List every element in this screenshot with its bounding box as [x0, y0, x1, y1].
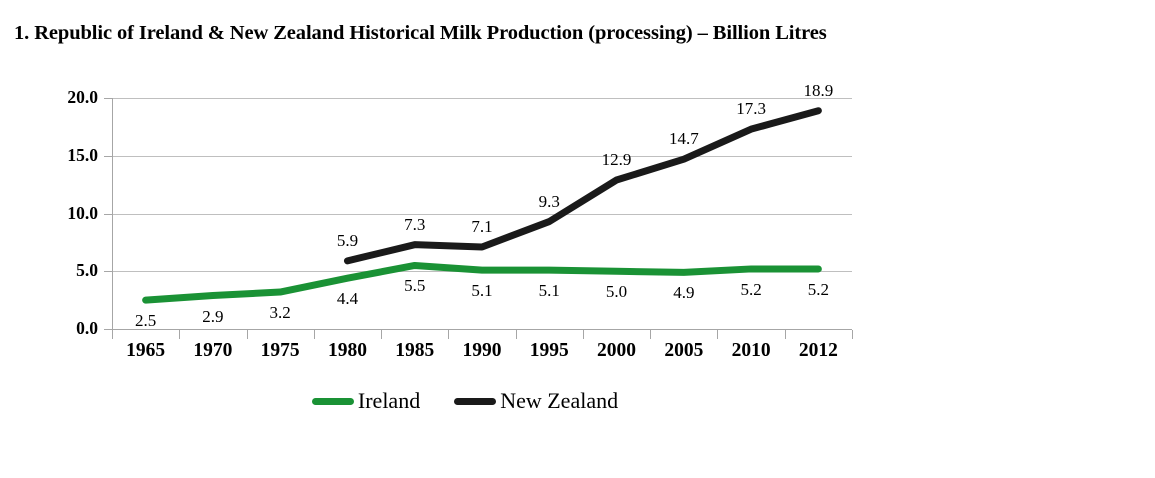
legend-label: Ireland: [358, 388, 420, 414]
legend-item-new-zealand[interactable]: New Zealand: [454, 388, 618, 414]
y-axis-label: 0.0: [28, 318, 98, 339]
data-label-new-zealand-2000: 12.9: [582, 150, 652, 170]
data-label-new-zealand-2010: 17.3: [716, 99, 786, 119]
data-label-ireland-1965: 2.5: [111, 311, 181, 331]
y-axis-label: 5.0: [28, 260, 98, 281]
line-swatch-icon: [312, 398, 354, 405]
y-axis-label: 10.0: [28, 203, 98, 224]
data-label-new-zealand-1990: 7.1: [447, 217, 517, 237]
series-line-new-zealand: [347, 111, 818, 261]
data-label-new-zealand-1985: 7.3: [380, 215, 450, 235]
x-tick-mark: [247, 330, 248, 339]
data-label-ireland-1975: 3.2: [245, 303, 315, 323]
gridline-5: [112, 271, 852, 272]
gridline-10: [112, 214, 852, 215]
y-tick-mark: [104, 156, 112, 157]
x-tick-mark: [785, 330, 786, 339]
data-label-ireland-1990: 5.1: [447, 281, 517, 301]
data-label-ireland-1995: 5.1: [514, 281, 584, 301]
legend-label: New Zealand: [500, 388, 618, 414]
y-axis-line: [112, 98, 113, 330]
x-axis-label-2012: 2012: [778, 340, 858, 362]
chart-legend: IrelandNew Zealand: [0, 388, 930, 414]
y-axis-label: 15.0: [28, 145, 98, 166]
data-label-new-zealand-2012: 18.9: [783, 81, 853, 101]
gridline-0: [112, 329, 852, 330]
x-tick-mark: [179, 330, 180, 339]
data-label-ireland-2005: 4.9: [649, 283, 719, 303]
x-tick-mark: [852, 330, 853, 339]
y-tick-mark: [104, 214, 112, 215]
x-tick-mark: [650, 330, 651, 339]
data-label-ireland-1970: 2.9: [178, 307, 248, 327]
data-label-ireland-2000: 5.0: [582, 282, 652, 302]
data-label-new-zealand-1980: 5.9: [312, 231, 382, 251]
y-axis-label: 20.0: [28, 87, 98, 108]
data-label-ireland-2012: 5.2: [783, 280, 853, 300]
legend-item-ireland[interactable]: Ireland: [312, 388, 420, 414]
data-label-new-zealand-2005: 14.7: [649, 129, 719, 149]
x-tick-mark: [112, 330, 113, 339]
gridline-15: [112, 156, 852, 157]
data-label-ireland-1980: 4.4: [312, 289, 382, 309]
y-tick-mark: [104, 98, 112, 99]
x-tick-mark: [314, 330, 315, 339]
x-tick-mark: [583, 330, 584, 339]
x-tick-mark: [448, 330, 449, 339]
line-swatch-icon: [454, 398, 496, 405]
data-label-ireland-1985: 5.5: [380, 276, 450, 296]
y-tick-mark: [104, 271, 112, 272]
x-tick-mark: [381, 330, 382, 339]
data-label-new-zealand-1995: 9.3: [514, 192, 584, 212]
data-label-ireland-2010: 5.2: [716, 280, 786, 300]
x-tick-mark: [717, 330, 718, 339]
x-tick-mark: [516, 330, 517, 339]
